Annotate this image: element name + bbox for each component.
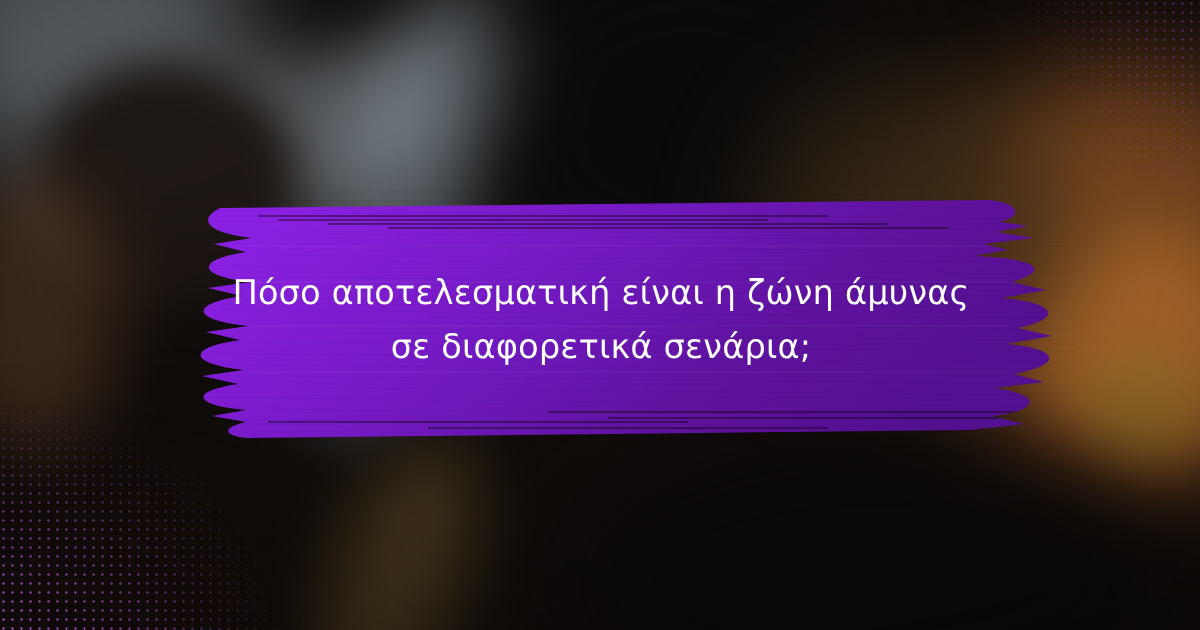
social-card: Πόσο αποτελεσματική είναι η ζώνη άμυνας … [0,0,1200,630]
headline: Πόσο αποτελεσματική είναι η ζώνη άμυνας … [128,186,1074,454]
headline-line-2: σε διαφορετικά σενάρια; [391,320,812,374]
headline-line-1: Πόσο αποτελεσματική είναι η ζώνη άμυνας [233,266,970,320]
